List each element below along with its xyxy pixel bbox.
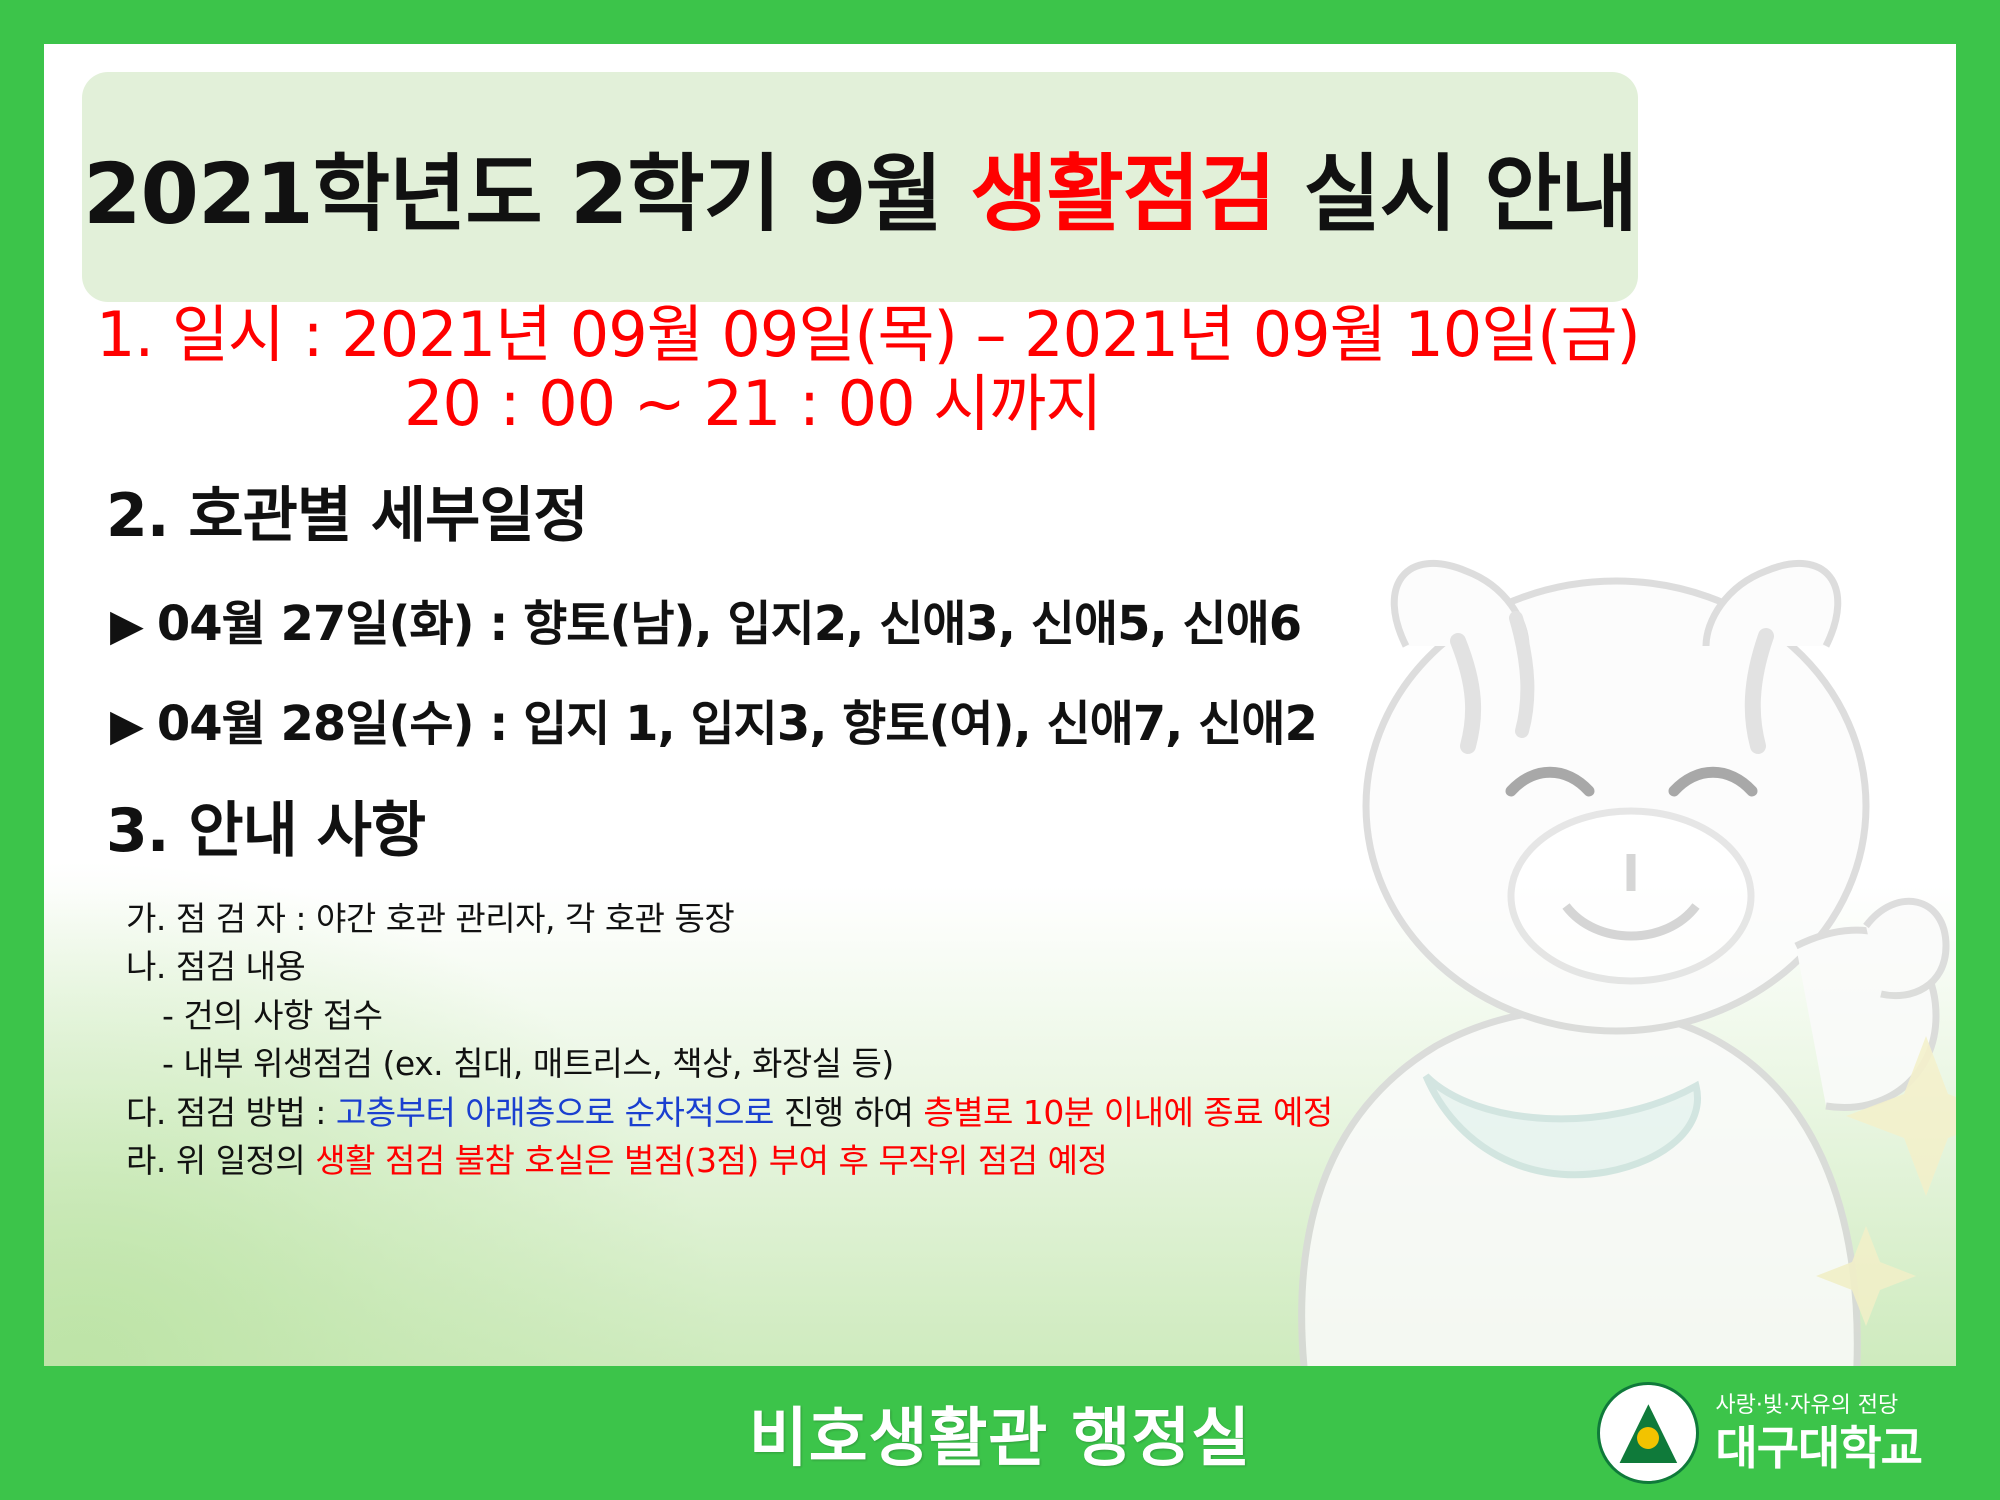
poster-card: 2021학년도 2학기 9월 생활점검 실시 안내 1. 일시 : 2021년 …	[44, 44, 1956, 1366]
brand-name: 대구대학교	[1715, 1425, 1922, 1471]
note-na-sub-1-text: - 건의 사항 접수	[162, 996, 383, 1035]
note-na-sub-2-text: - 내부 위생점검 (ex. 침대, 매트리스, 책상, 화장실 등)	[162, 1044, 894, 1083]
seal-dot	[1637, 1427, 1659, 1449]
note-ga: 가. 점 검 자 : 야간 호관 관리자, 각 호관 동장	[126, 895, 1956, 944]
title-band: 2021학년도 2학기 9월 생활점검 실시 안내	[82, 72, 1638, 302]
section-1-date-line: 1. 일시 : 2021년 09월 09일(목) – 2021년 09월 10일…	[96, 300, 1956, 369]
poster-body: 1. 일시 : 2021년 09월 09일(목) – 2021년 09월 10일…	[44, 300, 1956, 1186]
page-title: 2021학년도 2학기 9월 생활점검 실시 안내	[83, 127, 1637, 248]
university-seal-icon	[1597, 1382, 1699, 1484]
note-ra-part-0: 라. 위 일정의	[126, 1141, 315, 1180]
footer-office-name: 비호생활관 행정실	[749, 1387, 1251, 1479]
notice-poster: 2021학년도 2학기 9월 생활점검 실시 안내 1. 일시 : 2021년 …	[0, 0, 2000, 1500]
note-da-part-3: 층별로 10분 이내에 종료 예정	[923, 1093, 1332, 1132]
note-da-part-1: 고층부터 아래층으로 순차적으로	[336, 1093, 774, 1132]
triangle-bullet-icon: ▶	[110, 600, 143, 651]
note-da-part-0: 다. 점검 방법 :	[126, 1093, 336, 1132]
schedule-bullet-1: ▶04월 27일(화) : 향토(남), 입지2, 신애3, 신애5, 신애6	[110, 584, 1956, 654]
schedule-bullet-2: ▶04월 28일(수) : 입지 1, 입지3, 향토(여), 신애7, 신애2	[110, 684, 1956, 754]
university-brand: 사랑·빛·자유의 전당 대구대학교	[1597, 1382, 1922, 1484]
brand-tagline: 사랑·빛·자유의 전당	[1715, 1395, 1922, 1417]
schedule-bullet-1-text: 04월 27일(화) : 향토(남), 입지2, 신애3, 신애5, 신애6	[157, 596, 1301, 652]
section-3-heading: 3. 안내 사항	[106, 782, 1956, 869]
title-highlight: 생활점검	[970, 145, 1275, 243]
seal-inner-shape	[1618, 1403, 1678, 1463]
triangle-bullet-icon: ▶	[110, 700, 143, 751]
note-ra-part-1: 생활 점검 불참 호실은 벌점(3점) 부여 후 무작위 점검 예정	[315, 1141, 1107, 1180]
notice-notes: 가. 점 검 자 : 야간 호관 관리자, 각 호관 동장 나. 점검 내용 -…	[126, 895, 1956, 1186]
note-da: 다. 점검 방법 : 고층부터 아래층으로 순차적으로 진행 하여 층별로 10…	[126, 1089, 1956, 1138]
title-after: 실시 안내	[1275, 145, 1637, 243]
note-na-sub-2: - 내부 위생점검 (ex. 침대, 매트리스, 책상, 화장실 등)	[126, 1040, 1956, 1089]
poster-footer: 비호생활관 행정실 사랑·빛·자유의 전당 대구대학교	[0, 1366, 2000, 1500]
title-before: 2021학년도 2학기 9월	[83, 145, 970, 243]
note-na: 나. 점검 내용	[126, 943, 1956, 992]
section-1-time-line: 20 : 00 ~ 21 : 00 시까지	[404, 369, 1956, 438]
brand-text-block: 사랑·빛·자유의 전당 대구대학교	[1715, 1395, 1922, 1471]
note-ra: 라. 위 일정의 생활 점검 불참 호실은 벌점(3점) 부여 후 무작위 점검…	[126, 1137, 1956, 1186]
note-da-part-2: 진행 하여	[774, 1093, 923, 1132]
section-2-heading: 2. 호관별 세부일정	[106, 467, 1956, 554]
note-na-sub-1: - 건의 사항 접수	[126, 992, 1956, 1041]
schedule-bullet-2-text: 04월 28일(수) : 입지 1, 입지3, 향토(여), 신애7, 신애2	[157, 696, 1317, 752]
